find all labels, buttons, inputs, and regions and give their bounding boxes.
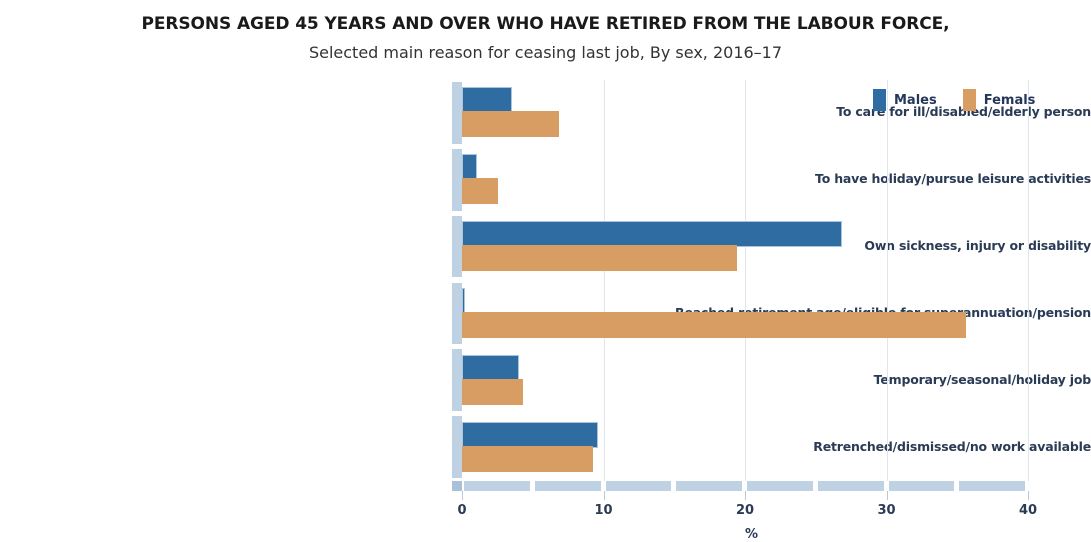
y-axis-band-segment bbox=[452, 416, 462, 478]
x-axis-tick-label: 20 bbox=[736, 503, 754, 518]
gridline bbox=[1028, 80, 1029, 481]
chart-plot-area: To care for ill/disabled/elderly personT… bbox=[0, 0, 1091, 538]
bar-femals[interactable] bbox=[462, 111, 559, 137]
x-axis-band-segment bbox=[676, 481, 742, 491]
bar-males[interactable] bbox=[462, 87, 512, 113]
x-axis-band-segment bbox=[535, 481, 601, 491]
x-axis-tick-label: 10 bbox=[594, 503, 612, 518]
x-axis-title: % bbox=[745, 527, 758, 542]
y-axis-band-segment bbox=[452, 349, 462, 411]
x-axis-tick-label: 0 bbox=[457, 503, 466, 518]
chart-legend: Males Femals bbox=[873, 89, 1035, 111]
y-axis-category-label: Temporary/seasonal/holiday job bbox=[646, 372, 1091, 387]
x-axis-tick bbox=[887, 491, 888, 500]
bar-males[interactable] bbox=[462, 288, 465, 314]
legend-item-femals[interactable]: Femals bbox=[963, 89, 1036, 111]
x-axis-band-segment bbox=[606, 481, 672, 491]
x-axis-tick bbox=[604, 491, 605, 500]
legend-label-males: Males bbox=[894, 93, 937, 108]
legend-swatch-icon-femals bbox=[963, 89, 976, 111]
y-axis-band-segment bbox=[452, 82, 462, 144]
legend-item-males[interactable]: Males bbox=[873, 89, 937, 111]
axis-origin-corner bbox=[452, 481, 462, 491]
x-axis-band-segment bbox=[959, 481, 1025, 491]
x-axis-tick bbox=[745, 491, 746, 500]
x-axis-tick-label: 30 bbox=[877, 503, 895, 518]
legend-label-femals: Femals bbox=[984, 93, 1036, 108]
bar-femals[interactable] bbox=[462, 178, 498, 204]
bar-males[interactable] bbox=[462, 154, 477, 180]
bar-femals[interactable] bbox=[462, 312, 966, 338]
bar-males[interactable] bbox=[462, 422, 598, 448]
x-axis-tick-label: 40 bbox=[1019, 503, 1037, 518]
bar-males[interactable] bbox=[462, 221, 842, 247]
legend-swatch-icon-males bbox=[873, 89, 886, 111]
gridline bbox=[604, 80, 605, 481]
bar-femals[interactable] bbox=[462, 379, 523, 405]
x-axis-tick bbox=[462, 491, 463, 500]
y-axis-band-segment bbox=[452, 149, 462, 211]
x-axis-band-segment bbox=[818, 481, 884, 491]
bar-femals[interactable] bbox=[462, 245, 737, 271]
gridline bbox=[887, 80, 888, 481]
x-axis-band-segment bbox=[889, 481, 955, 491]
gridline bbox=[745, 80, 746, 481]
x-axis-tick bbox=[1028, 491, 1029, 500]
y-axis-band-segment bbox=[452, 216, 462, 278]
bar-femals[interactable] bbox=[462, 446, 593, 472]
bar-males[interactable] bbox=[462, 355, 519, 381]
y-axis-category-label: To have holiday/pursue leisure activitie… bbox=[646, 171, 1091, 186]
y-axis-band-segment bbox=[452, 283, 462, 345]
x-axis-band-segment bbox=[747, 481, 813, 491]
y-axis-category-label: Retrenched/dismissed/no work available bbox=[646, 439, 1091, 454]
x-axis-band-segment bbox=[464, 481, 530, 491]
